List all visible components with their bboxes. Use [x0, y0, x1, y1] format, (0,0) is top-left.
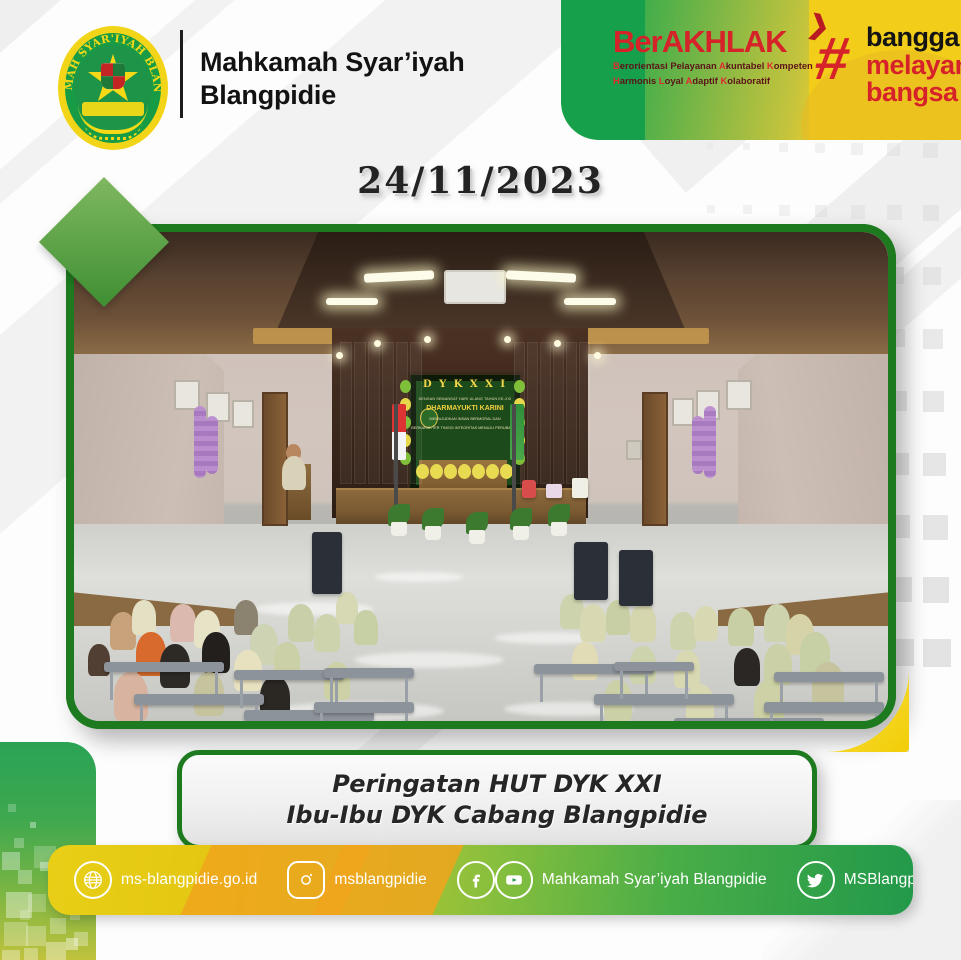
attendee [132, 600, 156, 635]
bench-chair [104, 662, 224, 672]
social-footer-bar: ms-blangpidie.go.id msblangpidie [48, 845, 913, 915]
bench-chair [674, 718, 824, 721]
attendee [630, 604, 656, 642]
hanging-flower [194, 406, 206, 478]
air-conditioner [444, 270, 506, 304]
balloon [514, 380, 525, 393]
attendee [572, 642, 598, 680]
attendee [354, 610, 378, 645]
stage-panel [354, 342, 366, 484]
stage-panel [540, 342, 551, 484]
chair-leg [875, 713, 878, 721]
event-date: 24/11/2023 [0, 160, 961, 202]
footer-item-youtube[interactable]: Mahkamah Syar’iyah Blangpidie [495, 861, 767, 899]
window [232, 400, 254, 428]
berakhlak-subtitle-1: Berorientasi Pelayanan Akuntabel Kompete… [613, 60, 813, 72]
attendee [670, 612, 696, 650]
balloon [458, 464, 471, 479]
bench-chair [614, 662, 694, 671]
website-label: ms-blangpidie.go.id [121, 871, 257, 889]
bmb-word-2: melayani [866, 52, 961, 80]
wall-switch [626, 440, 642, 460]
window [672, 398, 694, 426]
banner-line-4: BERKARAKTER TINGGI INTEGRITAS MENUJU PER… [410, 426, 520, 430]
ceiling-spotlight [504, 336, 511, 343]
desk-sign [572, 478, 588, 498]
chair-leg [405, 713, 408, 721]
hanging-flower [692, 416, 704, 474]
berakhlak-title: BerAKHLAK ❯ [613, 26, 813, 57]
event-photo-frame: D Y K X X I DENGAN SEMANGAT HARI ULANG T… [66, 224, 896, 729]
bmb-word-1: bangga [866, 24, 961, 52]
berakhlak-banner: BerAKHLAK ❯ Berorientasi Pelayanan Akunt… [561, 0, 961, 140]
stage-panel [553, 342, 564, 484]
chair-leg [320, 713, 323, 721]
stage-panel [579, 342, 590, 484]
court-emblem-logo: MAHKAMAH SYAR'IYAH BLANGPIDIE [58, 26, 168, 150]
header-divider [180, 30, 183, 118]
door-right [642, 392, 668, 526]
speaker-box [312, 532, 342, 594]
chair-leg [240, 680, 243, 708]
event-photo: D Y K X X I DENGAN SEMANGAT HARI ULANG T… [74, 232, 888, 721]
bench-chair [764, 702, 884, 713]
globe-icon [74, 861, 112, 899]
potted-plant [546, 502, 572, 536]
ceiling-light [326, 298, 378, 305]
window [726, 380, 752, 410]
ceiling-spotlight [424, 336, 431, 343]
potted-plant [508, 506, 534, 540]
footer-item-facebook[interactable] [457, 861, 495, 899]
chair-leg [685, 671, 688, 699]
chair-leg [110, 672, 113, 700]
footer-item-twitter[interactable]: MSBlangpidie [797, 861, 913, 899]
desk-item [546, 484, 562, 498]
chair-leg [140, 705, 143, 721]
emblem-shield [101, 63, 125, 89]
floor-reflection [354, 652, 504, 668]
bmb-word-3: bangsa [866, 79, 961, 107]
banner-title: D Y K X X I [410, 379, 520, 390]
twitter-label: MSBlangpidie [844, 871, 913, 889]
page-title: Mahkamah Syar’iyah Blangpidie [200, 46, 580, 112]
instagram-label: msblangpidie [334, 871, 427, 889]
poster-canvas: MAHKAMAH SYAR'IYAH BLANGPIDIE Mahkamah S… [0, 0, 961, 960]
potted-plant [464, 510, 490, 544]
bench-chair [134, 694, 264, 705]
balloon [472, 464, 485, 479]
potted-plant [420, 506, 446, 540]
hanging-flower [206, 416, 218, 474]
caption-line-1: Peringatan HUT DYK XXI [287, 769, 708, 800]
potted-plant [386, 502, 412, 536]
chair-leg [540, 674, 543, 702]
banner-line-3: MEWUJUDKAN INSAN BERMORAL DAN [410, 417, 520, 421]
stage-panel [527, 342, 538, 484]
youtube-icon [495, 861, 533, 899]
window [174, 380, 200, 410]
berakhlak-title-text: BerAKHLAK [613, 24, 787, 59]
hanging-flower [704, 406, 716, 478]
speaker-box [574, 542, 608, 600]
twitter-icon [797, 861, 835, 899]
door-left [262, 392, 288, 526]
balloon [486, 464, 499, 479]
banner-line-2: DHARMAYUKTI KARINI [410, 405, 520, 412]
attendee [288, 604, 314, 642]
desk-item [522, 480, 536, 498]
instagram-icon [287, 861, 325, 899]
caption-line-2: Ibu-Ibu DYK Cabang Blangpidie [287, 800, 708, 831]
ceiling-light [564, 298, 616, 305]
banner-line-1: DENGAN SEMANGAT HARI ULANG TAHUN KE-XXI [410, 397, 520, 401]
attendee [580, 604, 606, 642]
balloon [416, 464, 429, 479]
balloon [430, 464, 443, 479]
bench-chair [774, 672, 884, 682]
org-title-line1: Mahkamah Syar’iyah [200, 46, 580, 79]
attendee [694, 606, 718, 641]
floor-reflection [374, 572, 464, 582]
chair-leg [620, 671, 623, 699]
attendee [170, 604, 196, 642]
berakhlak-text-block: BerAKHLAK ❯ Berorientasi Pelayanan Akunt… [613, 26, 813, 87]
stage-panel [410, 342, 422, 484]
balloon [400, 380, 411, 393]
bench-chair [594, 694, 734, 705]
ceiling-spotlight [594, 352, 601, 359]
attendee [728, 608, 754, 646]
stage-panel [368, 342, 380, 484]
org-title-line2: Blangpidie [200, 79, 580, 112]
bench-chair [314, 702, 414, 713]
poster-header: MAHKAMAH SYAR'IYAH BLANGPIDIE Mahkamah S… [0, 0, 961, 145]
chair-leg [600, 705, 603, 721]
speaker-box [619, 550, 653, 606]
stage-panel [340, 342, 352, 484]
berakhlak-subtitle-2: Harmonis Loyal Adaptif Kolaboratif [613, 75, 813, 87]
youtube-label: Mahkamah Syar’iyah Blangpidie [542, 871, 767, 889]
footer-item-website[interactable]: ms-blangpidie.go.id [74, 861, 257, 899]
facebook-icon [457, 861, 495, 899]
attendee [734, 648, 760, 686]
chair-leg [770, 713, 773, 721]
bangga-melayani-bangsa: bangga melayani bangsa [866, 24, 961, 107]
bench-chair [324, 668, 414, 678]
stage-panel [566, 342, 577, 484]
caption-box: Peringatan HUT DYK XXI Ibu-Ibu DYK Caban… [177, 750, 817, 850]
footer-item-instagram[interactable]: msblangpidie [287, 861, 427, 899]
balloon [444, 464, 457, 479]
speaker-body [282, 456, 306, 490]
